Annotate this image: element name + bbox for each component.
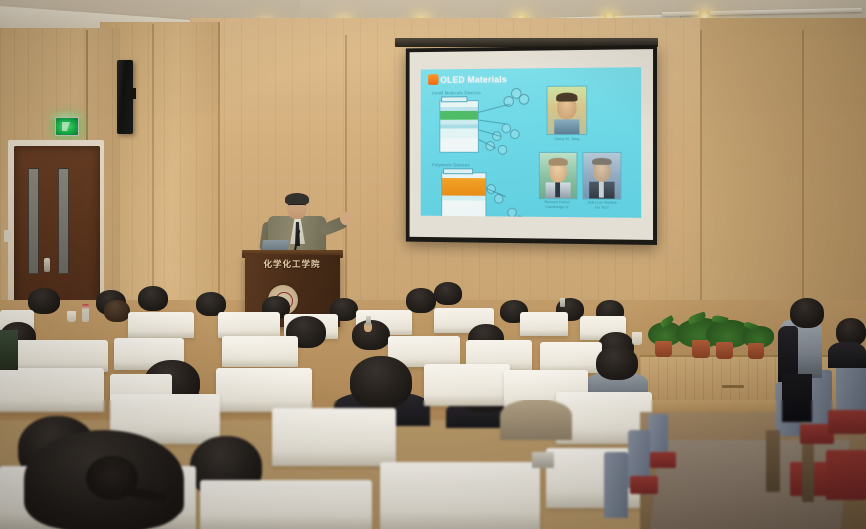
slide-title: OLED Materials <box>428 73 507 84</box>
presentation-slide: OLED Materials Small Molecule Devices Po… <box>421 67 641 218</box>
audience-head <box>350 356 412 408</box>
molecule-ring-icon <box>498 145 508 155</box>
chair-cover <box>128 312 194 338</box>
plant-pot <box>716 342 733 359</box>
theater-seat-cushion[interactable] <box>630 476 658 494</box>
slide-title-text: OLED Materials <box>440 74 507 84</box>
door-handle[interactable] <box>44 258 50 272</box>
standing-person-head <box>790 298 824 328</box>
audience-head <box>596 346 638 380</box>
mobile-phone <box>532 452 554 468</box>
audience-torso <box>0 330 18 370</box>
device-contact-1 <box>441 96 467 102</box>
door-hinge <box>4 230 12 242</box>
portrait-affiliation-3: Ga Tech <box>578 204 625 209</box>
wall-seam <box>345 35 347 315</box>
wall-seam <box>700 30 702 320</box>
chair-cover <box>216 368 312 412</box>
theater-seat-cushion[interactable] <box>650 452 676 468</box>
orange-square-logo-icon <box>428 74 438 85</box>
chair-cover <box>520 312 568 336</box>
theater-seat-back[interactable] <box>604 452 628 518</box>
molecule-ring-icon <box>515 216 525 218</box>
speaker-bracket <box>131 88 136 99</box>
drink-cup <box>67 311 76 322</box>
chair-cover <box>380 462 540 529</box>
audience-head <box>138 286 168 311</box>
wall-seam <box>802 30 804 310</box>
audience-head <box>104 300 130 322</box>
chair-cover <box>424 364 510 406</box>
chair-cover <box>200 480 372 529</box>
exit-door[interactable] <box>14 146 100 310</box>
leader-line <box>479 120 505 125</box>
theater-seat-armrest <box>766 430 780 492</box>
device-stack-diagram-2 <box>441 172 486 217</box>
slide-section-label-2: Polymeric Devices <box>432 162 470 167</box>
slide-section-label-1: Small Molecule Devices <box>432 90 481 95</box>
drink-cup <box>632 332 642 345</box>
water-bottle <box>82 304 89 322</box>
standing-person-legs <box>782 374 812 422</box>
chair-cover <box>272 408 396 466</box>
device-contact-2 <box>443 168 473 174</box>
lecture-hall-photo: OLED Materials Small Molecule Devices Po… <box>0 0 866 529</box>
molecule-ring-icon <box>519 94 530 105</box>
molecule-ring-icon <box>510 129 520 139</box>
plant-pot <box>692 340 710 358</box>
portrait-affiliation-2: Cambridge U. <box>534 204 580 209</box>
leader-line <box>479 104 511 113</box>
portrait-photo-3 <box>582 152 621 200</box>
theater-seat-cushion[interactable] <box>826 450 866 500</box>
mobile-phone <box>366 316 371 325</box>
right-wall-panelling <box>700 18 866 318</box>
audience-shoulders <box>828 342 866 368</box>
plant-pot <box>748 343 764 359</box>
mobile-phone <box>560 298 565 307</box>
audience-head <box>434 282 462 305</box>
plant-pot <box>655 341 672 357</box>
projection-screen: OLED Materials Small Molecule Devices Po… <box>406 45 657 245</box>
portrait-photo-2 <box>539 152 578 200</box>
chair-cover <box>218 312 280 338</box>
portrait-photo-1 <box>547 86 588 136</box>
chair-cover <box>0 368 104 412</box>
theater-seat-cushion[interactable] <box>828 410 866 434</box>
chair-cover <box>222 336 298 367</box>
exit-sign-icon <box>55 117 79 136</box>
ledge-handle <box>722 385 744 388</box>
wall-seam <box>152 24 154 330</box>
audience-shoulders <box>500 400 572 440</box>
chair-cover <box>540 342 602 373</box>
door-glass-panel <box>58 168 69 274</box>
portrait-caption-1: Ching W. Tang <box>543 136 591 141</box>
speaker-glasses-icon <box>288 204 306 209</box>
podium-sign-text: 化学化工学院 <box>252 257 332 271</box>
device-stack-diagram-1 <box>439 100 478 153</box>
theater-seat-armrest <box>802 444 814 502</box>
door-glass-panel <box>28 168 39 274</box>
wall-seam <box>218 22 220 322</box>
audience-head <box>406 288 436 313</box>
screen-surface: OLED Materials Small Molecule Devices Po… <box>410 49 653 240</box>
